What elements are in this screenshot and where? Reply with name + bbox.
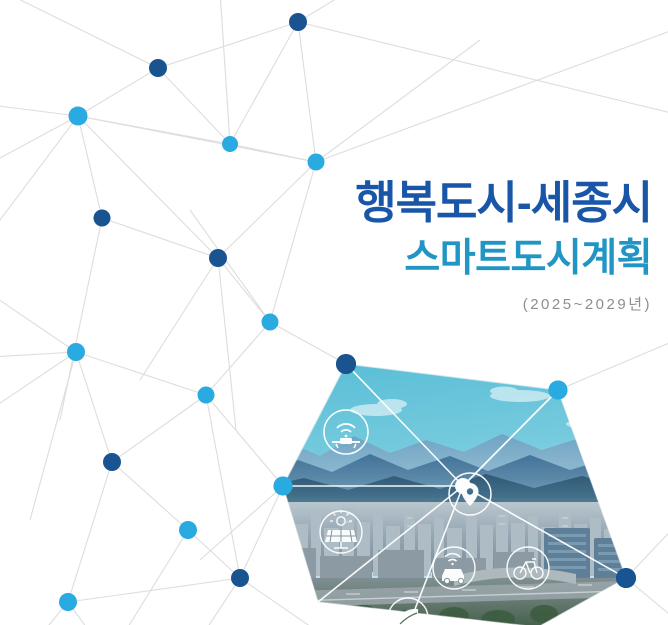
page-title-period: (2025~2029년) [282, 294, 652, 316]
hexagon-photo: SEJONG Smart city [258, 352, 658, 625]
page-title-secondary: 스마트도시계획 [282, 234, 652, 284]
cover-page: 행복도시-세종시 스마트도시계획 (2025~2029년) [0, 0, 668, 625]
page-title-primary: 행복도시-세종시 [282, 176, 652, 230]
cover-title-block: 행복도시-세종시 스마트도시계획 (2025~2029년) [282, 176, 652, 316]
